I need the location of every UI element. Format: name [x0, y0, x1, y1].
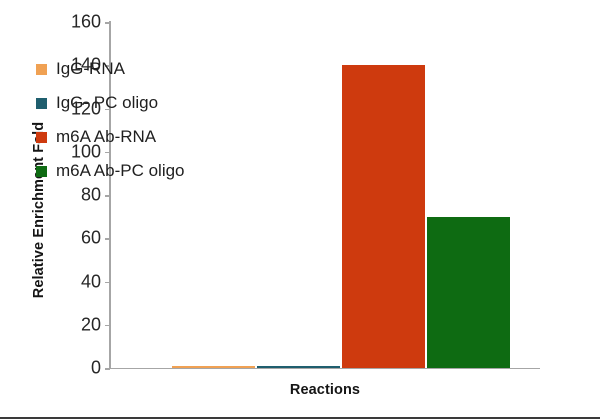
bar-igg-rna [172, 366, 255, 368]
y-tick-label: 60 [81, 228, 101, 249]
y-tick-label: 0 [91, 358, 101, 379]
bar-igg-pc-oligo [257, 366, 340, 368]
y-tick-label: 160 [71, 12, 101, 33]
legend-swatch-icon [36, 98, 47, 109]
y-tick-mark [105, 238, 110, 240]
legend-label: m6A Ab-RNA [56, 127, 156, 147]
bar-m6a-ab-pc-oligo [427, 217, 510, 368]
chart-legend: IgG-RNAIgG- PC oligom6A Ab-RNAm6A Ab-PC … [36, 52, 185, 188]
chart-figure: Relative Enrichment Fold 160140120100806… [0, 0, 600, 419]
legend-label: IgG- PC oligo [56, 93, 158, 113]
y-tick-mark [105, 282, 110, 284]
legend-item[interactable]: IgG-RNA [36, 52, 185, 86]
legend-item[interactable]: m6A Ab-PC oligo [36, 154, 185, 188]
y-tick-mark [105, 325, 110, 327]
legend-swatch-icon [36, 166, 47, 177]
legend-label: m6A Ab-PC oligo [56, 161, 185, 181]
legend-item[interactable]: IgG- PC oligo [36, 86, 185, 120]
legend-item[interactable]: m6A Ab-RNA [36, 120, 185, 154]
legend-label: IgG-RNA [56, 59, 125, 79]
legend-swatch-icon [36, 132, 47, 143]
y-tick-mark [105, 195, 110, 197]
y-tick-mark [105, 368, 110, 370]
y-tick-mark [105, 22, 110, 24]
legend-swatch-icon [36, 64, 47, 75]
y-tick-label: 40 [81, 271, 101, 292]
x-axis-title: Reactions [110, 382, 540, 398]
y-tick-label: 20 [81, 314, 101, 335]
bar-m6a-ab-rna [342, 65, 425, 368]
